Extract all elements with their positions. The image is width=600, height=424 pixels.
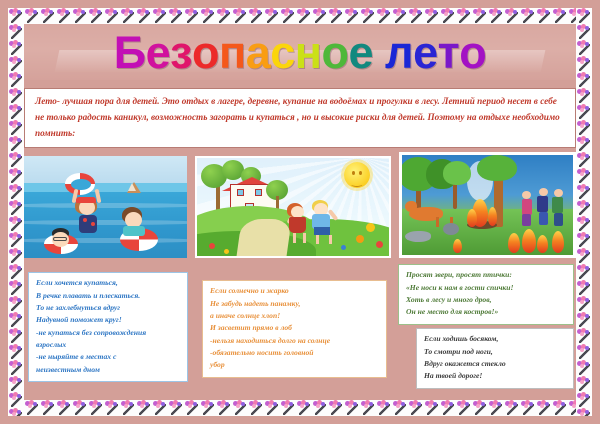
flower-bouquet-icon (168, 8, 184, 24)
poem-line: «Не носи к нам в гости спички! (406, 282, 566, 294)
poem-line: убор (210, 359, 379, 371)
flower-bouquet-icon (232, 400, 248, 416)
poem-line: На твоей дороге! (424, 370, 566, 382)
poem-line: Надувной поможет круг! (36, 314, 180, 326)
poem-line: Он не место для костров!» (406, 306, 566, 318)
title-band: Безопасноелето (24, 24, 576, 80)
flower-bouquet-icon (56, 400, 72, 416)
flower-bouquet-icon (576, 376, 592, 392)
flower-bouquet-icon (296, 8, 312, 24)
flower-bouquet-icon (408, 8, 424, 24)
flower-bouquet-icon (8, 168, 24, 184)
flower-bouquet-icon (8, 104, 24, 120)
flower-bouquet-icon (104, 400, 120, 416)
poem-line: а иначе солнце хлоп! (210, 310, 379, 322)
title-letter: е (146, 30, 171, 75)
poem-block-swimming: Если хочется купаться,В речке плавать и … (28, 272, 188, 381)
flower-bouquet-icon (576, 24, 592, 40)
flower-bouquet-icon (488, 8, 504, 24)
poem-block-barefoot: Если ходишь босяком,То смотри под ноги, … (416, 328, 574, 388)
poem-line: Если солнечно и жарко (210, 285, 379, 297)
title-letter: а (246, 30, 271, 75)
flower-bouquet-icon (200, 400, 216, 416)
flower-bouquet-icon (24, 8, 40, 24)
flower-bouquet-icon (296, 400, 312, 416)
flower-bouquet-icon (576, 344, 592, 360)
flower-bouquet-icon (216, 8, 232, 24)
title-letter: о (192, 30, 219, 75)
title-letter: о (459, 30, 486, 75)
flower-bouquet-icon (56, 8, 72, 24)
flower-bouquet-icon (8, 24, 24, 40)
flower-bouquet-icon (504, 400, 520, 416)
flower-bouquet-icon (576, 408, 592, 416)
flower-bouquet-icon (576, 216, 592, 232)
poem-line: Не забудь надеть панамку, (210, 298, 379, 310)
flower-bouquet-icon (576, 40, 592, 56)
flower-bouquet-icon (408, 400, 424, 416)
flower-bouquet-icon (8, 8, 24, 24)
flower-bouquet-icon (536, 8, 552, 24)
flower-bouquet-icon (576, 232, 592, 248)
flower-bouquet-icon (8, 152, 24, 168)
flower-bouquet-icon (576, 56, 592, 72)
flower-bouquet-icon (152, 400, 168, 416)
title-letter: с (270, 30, 295, 75)
poem-line: Просят звери, просят птички: (406, 269, 566, 281)
title-letter: п (219, 30, 246, 75)
flower-bouquet-icon (440, 8, 456, 24)
flower-bouquet-icon (200, 8, 216, 24)
poem-line: Хоть в лесу и много дров, (406, 294, 566, 306)
title-letter: Б (114, 30, 146, 75)
illustration-row (24, 156, 576, 258)
intro-paragraph: Лето- лучшая пора для детей. Это отдых в… (35, 94, 565, 141)
flower-bouquet-icon (576, 296, 592, 312)
flower-bouquet-icon (8, 56, 24, 72)
title-letter: е (413, 30, 438, 75)
title-letter: е (348, 30, 373, 75)
flower-bouquet-icon (552, 400, 568, 416)
title-letter: т (438, 30, 460, 75)
title-letter: о (321, 30, 348, 75)
flower-bouquet-icon (168, 400, 184, 416)
flower-bouquet-icon (8, 312, 24, 328)
flower-bouquet-icon (440, 400, 456, 416)
flower-bouquet-icon (576, 168, 592, 184)
poem-line: -не ныряйте в местах с (36, 351, 180, 363)
flower-bouquet-icon (504, 8, 520, 24)
flower-bouquet-icon (8, 376, 24, 392)
page-title: Безопасноелето (114, 30, 486, 75)
decorative-border-right (576, 8, 592, 416)
poem-line: И засветит прямо в лоб (210, 322, 379, 334)
flower-bouquet-icon (328, 400, 344, 416)
flower-bouquet-icon (576, 360, 592, 376)
flower-bouquet-icon (392, 400, 408, 416)
flower-bouquet-icon (8, 248, 24, 264)
title-letter: н (295, 30, 322, 75)
flower-bouquet-icon (8, 72, 24, 88)
poster-root: Безопасноелето Лето- лучшая пора для дет… (0, 0, 600, 424)
flower-bouquet-icon (576, 280, 592, 296)
sunny-meadow-children-scene (195, 156, 391, 258)
flower-bouquet-icon (360, 400, 376, 416)
poem-line: Если хочется купаться, (36, 277, 180, 289)
flower-bouquet-icon (184, 8, 200, 24)
flower-bouquet-icon (8, 232, 24, 248)
flower-bouquet-icon (328, 8, 344, 24)
flower-bouquet-icon (576, 264, 592, 280)
flower-bouquet-icon (248, 400, 264, 416)
flower-bouquet-icon (88, 8, 104, 24)
flower-bouquet-icon (376, 8, 392, 24)
decorative-border-top (8, 8, 592, 24)
poem-line: То смотри под ноги, (424, 346, 566, 358)
flower-bouquet-icon (576, 328, 592, 344)
flower-bouquet-icon (8, 120, 24, 136)
poem-line: неизвестным дном (36, 364, 180, 376)
flower-bouquet-icon (576, 152, 592, 168)
intro-box: Лето- лучшая пора для детей. Это отдых в… (24, 88, 576, 148)
flower-bouquet-icon (360, 8, 376, 24)
poem-line: Если ходишь босяком, (424, 333, 566, 345)
flower-bouquet-icon (376, 400, 392, 416)
poem-block-fire: Просят звери, просят птички:«Не носи к н… (398, 264, 574, 324)
flower-bouquet-icon (8, 88, 24, 104)
flower-bouquet-icon (520, 8, 536, 24)
flower-bouquet-icon (152, 8, 168, 24)
flower-bouquet-icon (576, 248, 592, 264)
flower-bouquet-icon (40, 8, 56, 24)
flower-bouquet-icon (488, 400, 504, 416)
poem-line: В речке плавать и плескаться. (36, 290, 180, 302)
flower-bouquet-icon (8, 280, 24, 296)
flower-bouquet-icon (264, 8, 280, 24)
flower-bouquet-icon (264, 400, 280, 416)
title-letter: л (385, 30, 413, 75)
poem-line: -нельзя находиться долго на солнце (210, 335, 379, 347)
flower-bouquet-icon (576, 184, 592, 200)
flower-bouquet-icon (8, 328, 24, 344)
flower-bouquet-icon (248, 8, 264, 24)
flower-bouquet-icon (472, 8, 488, 24)
flower-bouquet-icon (8, 408, 24, 416)
title-letter: з (170, 30, 192, 75)
flower-bouquet-icon (344, 400, 360, 416)
flower-bouquet-icon (8, 344, 24, 360)
flower-bouquet-icon (576, 312, 592, 328)
forest-fire-scene (399, 152, 576, 258)
decorative-border-left (8, 8, 24, 416)
flower-bouquet-icon (8, 392, 24, 408)
swimming-children-scene (24, 156, 187, 258)
flower-bouquet-icon (184, 400, 200, 416)
poem-block-sun: Если солнечно и жаркоНе забудь надеть па… (202, 280, 387, 377)
poem-line: взрослых (36, 339, 180, 351)
flower-bouquet-icon (576, 104, 592, 120)
poem-blocks: Если хочется купаться,В речке плавать и … (24, 264, 576, 390)
flower-bouquet-icon (312, 8, 328, 24)
flower-bouquet-icon (8, 360, 24, 376)
flower-bouquet-icon (104, 8, 120, 24)
flower-bouquet-icon (576, 8, 592, 24)
flower-bouquet-icon (280, 400, 296, 416)
flower-bouquet-icon (8, 264, 24, 280)
flower-bouquet-icon (456, 400, 472, 416)
flower-bouquet-icon (280, 8, 296, 24)
poem-line: То не захлебнуться вдруг (36, 302, 180, 314)
flower-bouquet-icon (72, 8, 88, 24)
flower-bouquet-icon (576, 88, 592, 104)
flower-bouquet-icon (552, 8, 568, 24)
flower-bouquet-icon (472, 400, 488, 416)
flower-bouquet-icon (216, 400, 232, 416)
flower-bouquet-icon (8, 136, 24, 152)
flower-bouquet-icon (576, 72, 592, 88)
poem-line: -не купаться без сопровождения (36, 327, 180, 339)
flower-bouquet-icon (120, 8, 136, 24)
flower-bouquet-icon (8, 200, 24, 216)
poem-line: Вдруг окажется стекло (424, 358, 566, 370)
decorative-border-bottom (8, 400, 592, 416)
flower-bouquet-icon (8, 40, 24, 56)
flower-bouquet-icon (136, 400, 152, 416)
flower-bouquet-icon (8, 216, 24, 232)
flower-bouquet-icon (24, 400, 40, 416)
flower-bouquet-icon (536, 400, 552, 416)
flower-bouquet-icon (424, 8, 440, 24)
flower-bouquet-icon (424, 400, 440, 416)
flower-bouquet-icon (136, 8, 152, 24)
flower-bouquet-icon (520, 400, 536, 416)
flower-bouquet-icon (576, 136, 592, 152)
flower-bouquet-icon (312, 400, 328, 416)
flower-bouquet-icon (232, 8, 248, 24)
flower-bouquet-icon (392, 8, 408, 24)
flower-bouquet-icon (72, 400, 88, 416)
flower-bouquet-icon (576, 120, 592, 136)
flower-bouquet-icon (120, 400, 136, 416)
poster-content: Безопасноелето Лето- лучшая пора для дет… (24, 24, 576, 400)
flower-bouquet-icon (40, 400, 56, 416)
flower-bouquet-icon (576, 200, 592, 216)
flower-bouquet-icon (8, 184, 24, 200)
flower-bouquet-icon (456, 8, 472, 24)
flower-bouquet-icon (8, 296, 24, 312)
flower-bouquet-icon (576, 392, 592, 408)
poem-line: -обязательно носить головной (210, 347, 379, 359)
flower-bouquet-icon (344, 8, 360, 24)
flower-bouquet-icon (88, 400, 104, 416)
